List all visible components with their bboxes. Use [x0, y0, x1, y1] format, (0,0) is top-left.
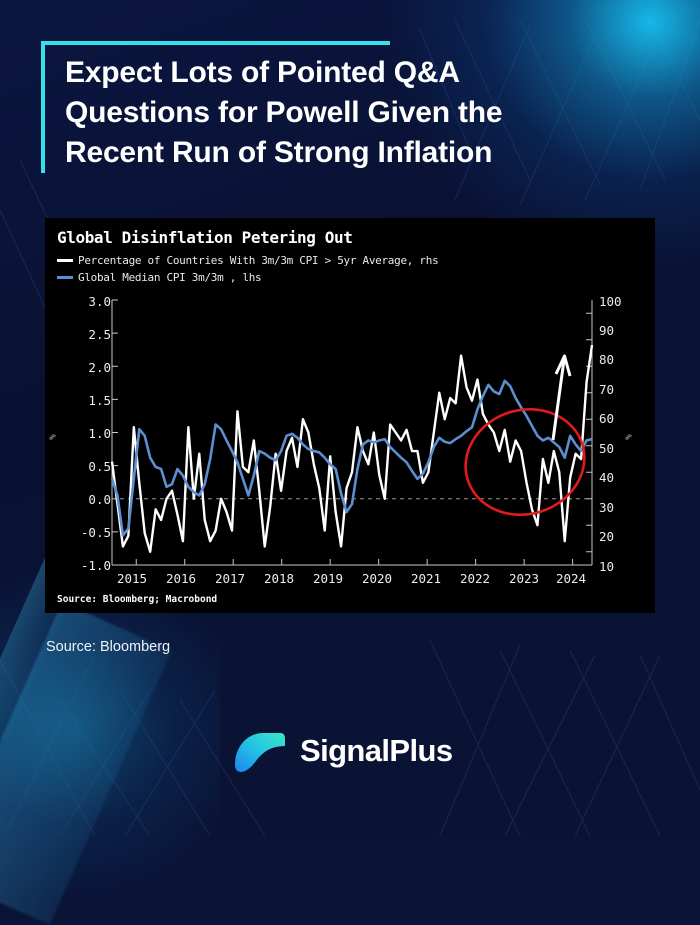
y-tick-right-3: 70: [599, 382, 633, 397]
x-tick-2022: 2022: [451, 571, 499, 586]
chart-plot-area: [112, 300, 592, 565]
background-glow-bottom-left: [0, 566, 220, 896]
y-axis-unit-right: %: [625, 434, 635, 439]
x-tick-2024: 2024: [547, 571, 595, 586]
chart-legend: Percentage of Countries With 3m/3m CPI >…: [57, 252, 438, 286]
y-tick-left-1: 2.5: [69, 327, 111, 342]
legend-label-pct-countries: Percentage of Countries With 3m/3m CPI >…: [78, 254, 438, 267]
chart-source-note: Source: Bloomberg; Macrobond: [57, 594, 217, 605]
y-tick-right-5: 50: [599, 441, 633, 456]
legend-swatch-white: [57, 259, 73, 262]
y-tick-left-7: -0.5: [69, 525, 111, 540]
series-line-pct-countries: [112, 345, 592, 552]
x-tick-2021: 2021: [402, 571, 450, 586]
legend-label-global-median-cpi: Global Median CPI 3m/3m , lhs: [78, 271, 261, 284]
x-tick-2018: 2018: [255, 571, 303, 586]
y-tick-left-0: 3.0: [69, 294, 111, 309]
legend-swatch-blue: [57, 276, 73, 279]
y-tick-right-8: 20: [599, 529, 633, 544]
x-tick-2016: 2016: [157, 571, 205, 586]
brand-name: SignalPlus: [300, 733, 452, 769]
signalplus-wave-icon: [232, 727, 288, 775]
chart-title: Global Disinflation Petering Out: [57, 228, 352, 247]
source-note: Source: Bloomberg: [46, 639, 170, 655]
y-tick-left-3: 1.5: [69, 393, 111, 408]
x-tick-2015: 2015: [108, 571, 156, 586]
y-tick-left-8: -1.0: [69, 558, 111, 573]
x-tick-2020: 2020: [353, 571, 401, 586]
y-tick-left-5: 0.5: [69, 459, 111, 474]
y-tick-right-1: 90: [599, 323, 633, 338]
y-tick-left-4: 1.0: [69, 426, 111, 441]
x-tick-2023: 2023: [500, 571, 548, 586]
chart-panel: Global Disinflation Petering Out Percent…: [45, 218, 655, 613]
page-title: Expect Lots of Pointed Q&A Questions for…: [65, 53, 601, 173]
brand-logo: SignalPlus: [232, 727, 452, 775]
x-tick-2017: 2017: [206, 571, 254, 586]
y-tick-right-9: 10: [599, 559, 633, 574]
y-tick-left-6: 0.0: [69, 492, 111, 507]
y-tick-left-2: 2.0: [69, 360, 111, 375]
headline-block: Expect Lots of Pointed Q&A Questions for…: [41, 41, 601, 173]
y-tick-right-7: 30: [599, 500, 633, 515]
y-tick-right-0: 100: [599, 294, 633, 309]
y-tick-right-4: 60: [599, 411, 633, 426]
legend-item-pct-countries: Percentage of Countries With 3m/3m CPI >…: [57, 252, 438, 269]
x-tick-2019: 2019: [304, 571, 352, 586]
y-axis-unit-left: %: [49, 434, 59, 439]
headline-accent-rule: [45, 41, 390, 45]
upward-trend-arrow: [553, 356, 570, 440]
y-tick-right-6: 40: [599, 470, 633, 485]
legend-item-global-median-cpi: Global Median CPI 3m/3m , lhs: [57, 269, 438, 286]
y-tick-right-2: 80: [599, 352, 633, 367]
